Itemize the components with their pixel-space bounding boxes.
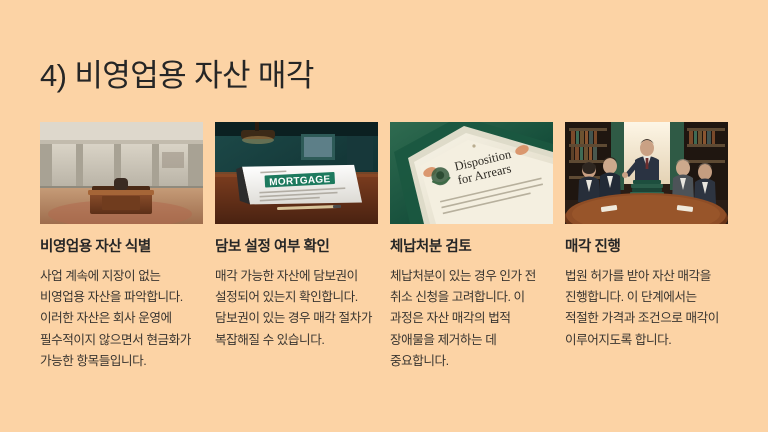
disposition-certificate-photo: Disposition for Arrears xyxy=(390,122,553,224)
list-item[interactable]: MORTGAGE 담보 설정 여부 확인 매각 가능한 자산에 담보권이 설정되… xyxy=(215,122,378,372)
card-body: 사업 계속에 지장이 없는 비영업용 자산을 파악합니다. 이러한 자산은 회사… xyxy=(40,266,203,372)
card-list: 비영업용 자산 식별 사업 계속에 지장이 없는 비영업용 자산을 파악합니다.… xyxy=(40,122,728,372)
list-item[interactable]: 비영업용 자산 식별 사업 계속에 지장이 없는 비영업용 자산을 파악합니다.… xyxy=(40,122,203,372)
card-heading: 체납처분 검토 xyxy=(390,238,553,256)
card-heading: 담보 설정 여부 확인 xyxy=(215,238,378,256)
card-body: 체납처분이 있는 경우 인가 전 취소 신청을 고려합니다. 이 과정은 자산 … xyxy=(390,266,553,372)
card-heading: 비영업용 자산 식별 xyxy=(40,238,203,256)
list-item[interactable]: 매각 진행 법원 허가를 받아 자산 매각을 진행합니다. 이 단계에서는 적절… xyxy=(565,122,728,372)
executive-office-photo xyxy=(40,122,203,224)
slide-root: 4) 비영업용 자산 매각 xyxy=(0,0,768,432)
card-body: 매각 가능한 자산에 담보권이 설정되어 있는지 확인합니다. 담보권이 있는 … xyxy=(215,266,378,351)
list-item[interactable]: Disposition for Arrears 체납처분 검토 체납처분이 있는… xyxy=(390,122,553,372)
card-heading: 매각 진행 xyxy=(565,238,728,256)
card-body: 법원 허가를 받아 자산 매각을 진행합니다. 이 단계에서는 적절한 가격과 … xyxy=(565,266,728,351)
page-title: 4) 비영업용 자산 매각 xyxy=(40,58,314,94)
mortgage-document-photo: MORTGAGE xyxy=(215,122,378,224)
boardroom-meeting-photo xyxy=(565,122,728,224)
